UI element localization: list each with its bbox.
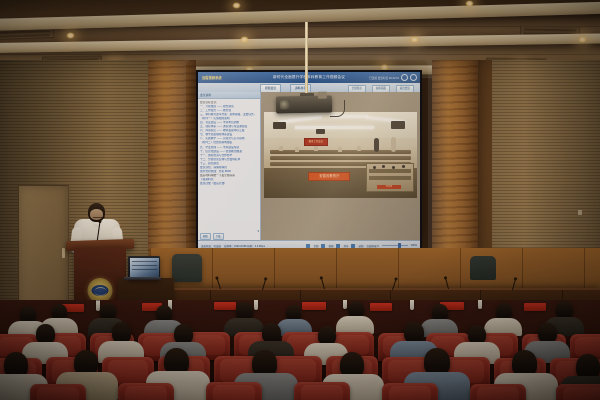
laptop-screen [130, 258, 159, 279]
door-handle-icon [62, 248, 65, 258]
app-logo-text: 远程视频系统 [198, 75, 222, 80]
auditorium-seat [470, 384, 526, 400]
ceiling-downlight [240, 36, 249, 43]
app-title: 新时代全面提升学校本科教育工作视频会议 [273, 75, 345, 80]
audience-head [404, 322, 424, 343]
projector-cable [330, 100, 345, 117]
tab-video-conference[interactable]: 视频会议 [260, 84, 281, 92]
refresh-button[interactable]: 刷新 [200, 233, 211, 240]
ceiling-downlight [465, 0, 474, 7]
settings-icon[interactable] [410, 74, 417, 81]
ceiling-projector [276, 96, 332, 114]
indicator-audio: 音频 [313, 244, 318, 248]
audience-head [36, 324, 55, 344]
ceiling-downlight [232, 2, 241, 9]
auditorium-seat [556, 384, 600, 400]
status-connection: 连接状态：已连接 [201, 244, 221, 248]
audience-head [112, 322, 131, 343]
projector-mount-pole [305, 22, 308, 100]
name-placard [302, 302, 326, 310]
status-terminals: 在线终端 8 [367, 244, 379, 248]
remote-wall-banner: 教育工作会议 [304, 138, 328, 146]
volume-icon[interactable] [401, 74, 408, 81]
water-bottle [343, 300, 347, 309]
speaker-face [90, 209, 103, 220]
zoom-slider[interactable] [382, 245, 408, 247]
pip-label: 分会场 [377, 185, 401, 189]
indicator-video: 视频 [328, 244, 333, 248]
indicator-share: 共享 [343, 244, 348, 248]
list-item[interactable]: 会议回放（会后开放） [200, 182, 258, 186]
app-body: 会议资料 会议议程目录： 一、开幕致辞 —— 校长讲话 二、工作报告 —— 教务… [198, 92, 420, 241]
auditorium-seat [382, 383, 438, 400]
audience-area [0, 300, 600, 400]
audio-icon[interactable] [306, 244, 310, 248]
name-placard [214, 302, 236, 310]
status-resolution: 分辨率：1920×1080 码率：2.0 Mbps [224, 244, 265, 248]
indicator-record: 录制 [358, 244, 363, 248]
record-icon[interactable] [351, 244, 355, 248]
audience-head [538, 323, 557, 343]
projector-lens-icon [280, 100, 290, 109]
remote-meeting-video: 教育工作会议 [264, 112, 417, 198]
agenda-list: 会议议程目录： 一、开幕致辞 —— 校长讲话 二、工作报告 —— 教务处 三、本… [198, 99, 260, 188]
water-bottle [410, 300, 414, 310]
zoom-level: 100% [411, 244, 417, 247]
wall-marker [578, 210, 582, 215]
agenda-panel: 会议资料 会议议程目录： 一、开幕致辞 —— 校长讲话 二、工作报告 —— 教务… [198, 92, 261, 241]
auditorium-seat [30, 384, 86, 400]
video-icon[interactable] [321, 244, 325, 248]
stage-chair [470, 256, 496, 280]
agenda-panel-header: 会议资料 [198, 92, 260, 99]
auditorium-seat [206, 382, 262, 400]
remote-desk-banner: 安徽省教育厅 [308, 172, 350, 181]
ceiling-downlight [578, 36, 587, 43]
name-placard [370, 303, 392, 311]
auditorium-seat [118, 383, 174, 400]
name-placard [524, 303, 546, 311]
app-header-bar: 远程视频系统 新时代全面提升学校本科教育工作视频会议 已连接 会议时长 00:4… [198, 72, 420, 83]
projector-knob [318, 92, 327, 99]
auditorium-photo: 远程视频系统 新时代全面提升学校本科教育工作视频会议 已连接 会议时长 00:4… [0, 0, 600, 400]
ceiling-beam [0, 33, 600, 54]
tab-document-share[interactable]: 资料共享 [290, 84, 311, 92]
ceiling-beam [0, 0, 600, 32]
water-bottle [254, 300, 258, 310]
ceiling-downlight [66, 32, 75, 39]
auditorium-seat [294, 382, 350, 400]
stage-chair [172, 254, 202, 282]
audience-head [262, 323, 281, 343]
laptop-keyboard-base [124, 277, 161, 280]
speaker-head [88, 203, 105, 222]
share-icon[interactable] [336, 244, 340, 248]
ceiling-downlight [410, 36, 419, 43]
water-bottle [478, 300, 482, 309]
download-button[interactable]: 下载 [213, 233, 224, 240]
connection-status-text: 已连接 会议时长 00:42:16 [369, 76, 399, 80]
pip-secondary-room[interactable]: 分会场 [366, 163, 414, 192]
side-door[interactable] [18, 185, 69, 309]
audience-head [174, 324, 193, 344]
